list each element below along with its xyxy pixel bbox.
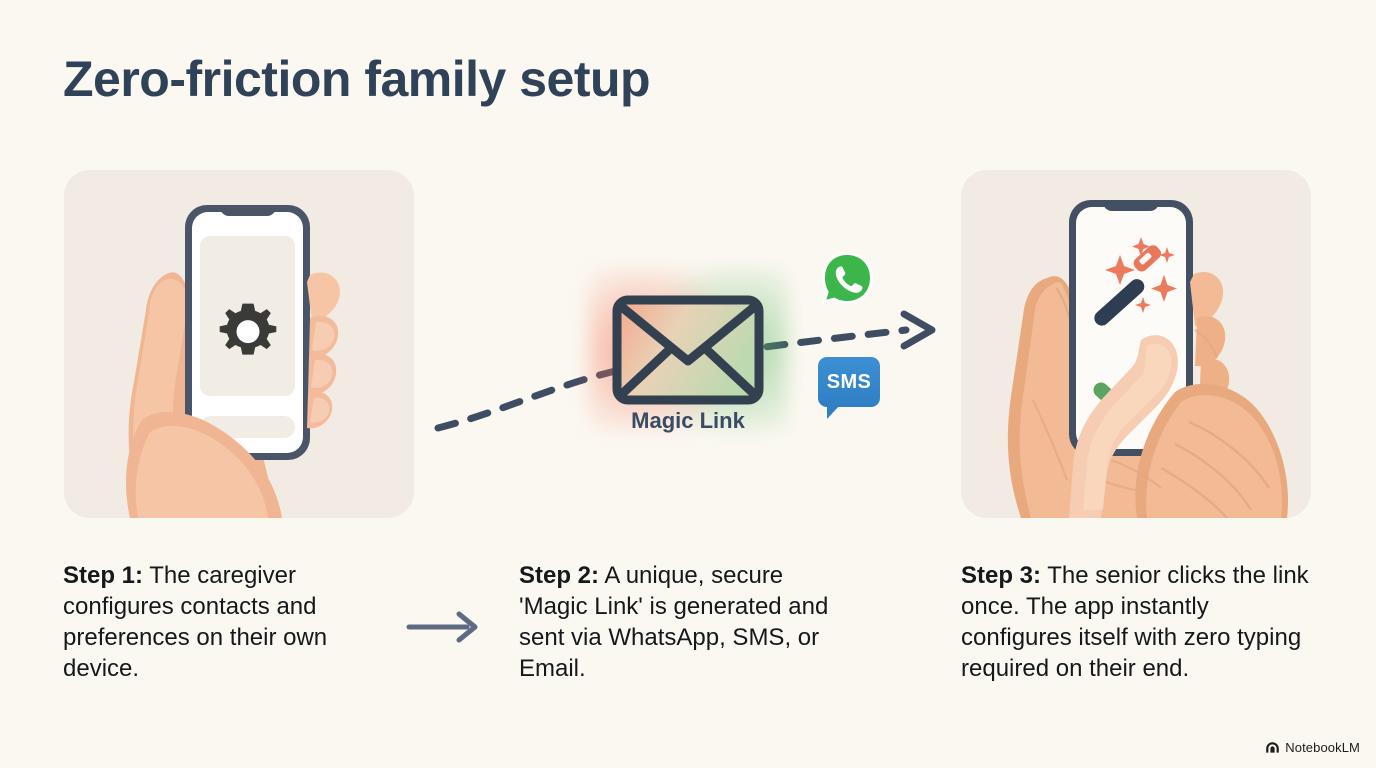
infographic-canvas: Zero-friction family setup: [0, 0, 1376, 768]
step-1-label: Step 1:: [63, 562, 143, 589]
page-title: Zero-friction family setup: [63, 52, 650, 107]
step-connector-arrow: [405, 607, 485, 647]
magic-link-label: Magic Link: [612, 408, 764, 434]
step-1-caption: Step 1: The caregiver configures contact…: [63, 561, 383, 685]
panel-senior-phone: [961, 170, 1311, 518]
caregiver-hand-fingers: [64, 170, 414, 518]
envelope-icon: [612, 295, 764, 405]
step-3-caption: Step 3: The senior clicks the link once.…: [961, 561, 1311, 685]
whatsapp-icon: [818, 250, 876, 308]
watermark-label: NotebookLM: [1285, 740, 1360, 755]
watermark: NotebookLM: [1265, 740, 1360, 755]
senior-hand-tapping: [961, 170, 1311, 518]
sms-label: SMS: [818, 357, 880, 407]
magic-link-envelope: [612, 295, 764, 405]
sms-bubble-icon: SMS: [818, 357, 880, 407]
step-2-caption: Step 2: A unique, secure 'Magic Link' is…: [519, 561, 829, 685]
step-2-label: Step 2:: [519, 562, 599, 589]
notebooklm-logo-icon: [1265, 741, 1280, 754]
step-3-label: Step 3:: [961, 562, 1041, 589]
panel-caregiver-phone: [64, 170, 414, 518]
sms-bubble-tail: [827, 405, 840, 419]
